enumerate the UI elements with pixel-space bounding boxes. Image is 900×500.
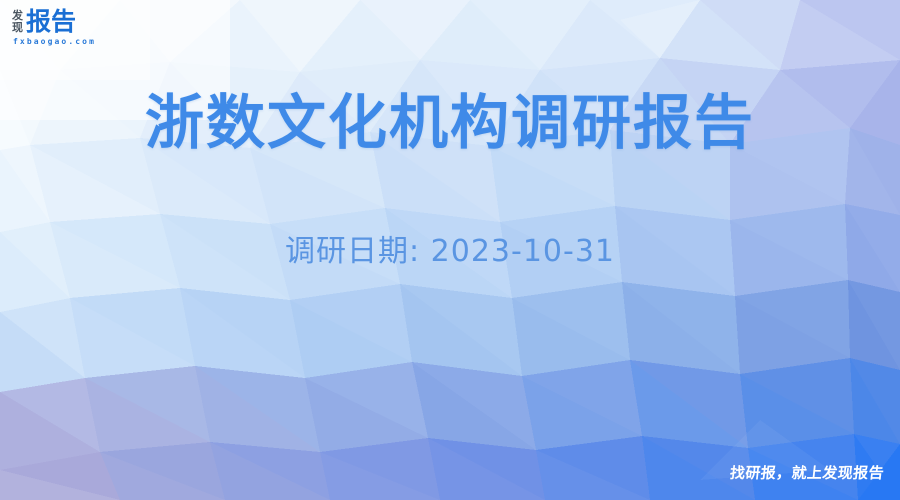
report-cover-page: 发 现 报告 fxbaogao.com 浙数文化机构调研报告 调研日期: 202… — [0, 0, 900, 500]
survey-date-subtitle: 调研日期: 2023-10-31 — [0, 232, 900, 272]
logo-url: fxbaogao.com — [13, 37, 96, 47]
logo-wordmark-row: 发 现 报告 — [12, 9, 96, 35]
brand-tagline: 找研报，就上发现报告 — [729, 463, 885, 483]
logo-wordmark: 报告 — [26, 9, 76, 35]
logo-mark-fx: 发 现 — [12, 9, 23, 34]
brand-logo[interactable]: 发 现 报告 fxbaogao.com — [12, 9, 96, 47]
page-title: 浙数文化机构调研报告 — [0, 88, 900, 158]
logo-mark-char-xian: 现 — [12, 22, 23, 34]
